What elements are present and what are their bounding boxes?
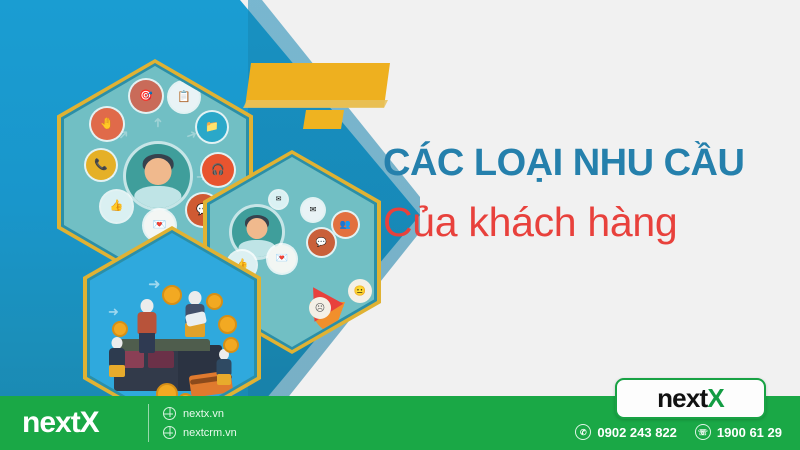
- chat-icon: 💬: [308, 229, 335, 256]
- footer-divider: [148, 404, 149, 442]
- coin-icon: [223, 337, 239, 353]
- phone-number: 0902 243 822: [597, 425, 677, 440]
- badge-label: nextX: [657, 383, 724, 414]
- phone-icon: ✆: [575, 424, 591, 440]
- coin-icon: [206, 293, 223, 310]
- hotline-icon: ☏: [695, 424, 711, 440]
- wallet-top: [114, 339, 210, 351]
- yellow-ribbon-shadow: [243, 100, 388, 108]
- site-label: nextcrm.vn: [183, 427, 237, 439]
- badge-prefix: next: [657, 383, 707, 413]
- headline-line1: CÁC LOẠI NHU CẦU: [383, 143, 783, 185]
- phone-number: 1900 61 29: [717, 425, 782, 440]
- person-small: [214, 349, 234, 385]
- arrow-icon: ➜: [148, 277, 161, 292]
- arrow-icon: ➜: [151, 117, 164, 128]
- satisfaction-gauge: ☹ 😐 ↻: [310, 267, 380, 337]
- mail-icon: ✉: [270, 191, 287, 208]
- phone-entry[interactable]: ✆ 0902 243 822: [575, 424, 677, 440]
- globe-icon: [163, 407, 176, 420]
- gauge-needle-icon: ↻: [360, 315, 374, 329]
- footer-sites: nextx.vn nextcrm.vn: [163, 404, 237, 442]
- thumbs-up-icon: 👍: [101, 191, 132, 222]
- hand-like-icon: 🤚: [91, 108, 123, 140]
- person-icon: 👥: [333, 212, 358, 237]
- neutral-face-icon: 😐: [348, 279, 372, 303]
- marketing-banner: ➜ ➜ ➜ ➜ ➜ ➜ ➜ ➜ 🎯 📋 📁 🎧 💬 💌 👍 📞 🤚: [0, 0, 800, 450]
- person-standing: [134, 299, 160, 351]
- site-row[interactable]: nextx.vn: [163, 404, 237, 423]
- nextx-badge[interactable]: nextX: [615, 378, 766, 419]
- globe-icon: [163, 426, 176, 439]
- arrow-icon: ➜: [108, 305, 119, 318]
- sad-face-icon: ☹: [309, 297, 331, 319]
- avatar: [126, 144, 190, 208]
- target-icon: 🎯: [130, 80, 162, 112]
- site-row[interactable]: nextcrm.vn: [163, 423, 237, 442]
- headline-block: CÁC LOẠI NHU CẦU Của khách hàng: [383, 143, 783, 248]
- phone-icon: 📞: [86, 150, 116, 180]
- footer-logo: nextX: [22, 406, 99, 440]
- footer-phones: ✆ 0902 243 822 ☏ 1900 61 29: [575, 424, 782, 440]
- coin-icon: [162, 285, 182, 305]
- wallet-card: [148, 351, 174, 368]
- coin-icon: [112, 321, 128, 337]
- mail-heart-icon: 💌: [268, 245, 296, 273]
- person-small: [106, 337, 128, 379]
- folder-heart-icon: 📁: [197, 112, 227, 142]
- mail-icon: ✉: [302, 199, 324, 221]
- badge-suffix: X: [707, 383, 724, 413]
- yellow-ribbon-small: [303, 110, 344, 129]
- headline-line2: Của khách hàng: [383, 197, 783, 248]
- site-label: nextx.vn: [183, 408, 224, 420]
- phone-entry[interactable]: ☏ 1900 61 29: [695, 424, 782, 440]
- coin-icon: [218, 315, 237, 334]
